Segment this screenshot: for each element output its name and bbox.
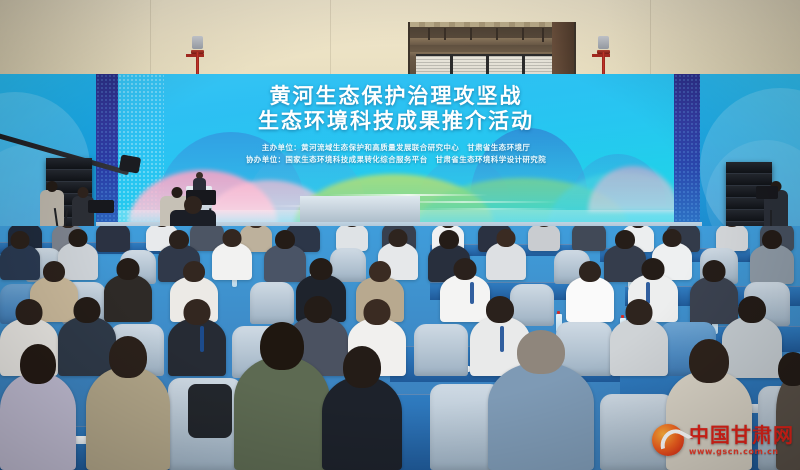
wall-shadow-right: [540, 0, 800, 82]
watermark-text: 中国甘肃网 www.gscn.com.cn: [689, 425, 794, 456]
organizer-line-co-host: 协办单位：国家生态环境科技成果转化综合服务平台 甘肃省生态环境科学设计研究院: [118, 154, 674, 166]
audience-member: [488, 362, 594, 470]
organizer-line-host: 主办单位：黄河流域生态保护和高质量发展联合研究中心 甘肃省生态环境厅: [118, 142, 674, 154]
audience-member: [322, 376, 402, 470]
video-camera-left: [88, 200, 114, 213]
hall-wall: [0, 0, 800, 82]
audience-member: [0, 372, 76, 470]
pillar-dot-pattern: [674, 74, 700, 226]
audience-member: [86, 366, 170, 470]
ceiling-hanger: [522, 28, 524, 40]
video-camera-right: [756, 186, 778, 199]
swirl-logo-icon: [652, 424, 684, 456]
conference-chair: [414, 324, 468, 376]
mezzanine-opening: [408, 22, 576, 82]
backpack: [188, 384, 232, 438]
wall-seam: [650, 0, 651, 82]
wall-seam: [150, 0, 151, 82]
camera-crane-head: [119, 154, 141, 173]
screen-title-line-2: 生态环境科技成果推介活动: [118, 109, 674, 134]
ceiling-hanger: [542, 28, 544, 42]
ceiling-hanger: [470, 28, 472, 40]
speaker-on-stage: [193, 172, 206, 190]
wall-seam: [330, 0, 331, 82]
ceiling-beam: [410, 38, 574, 45]
ceiling-hanger: [428, 28, 430, 40]
watermark: 中国甘肃网 www.gscn.com.cn: [652, 418, 792, 462]
backdrop-pillar-right: [674, 74, 700, 226]
conference-photo-scene: 甘肃·兰州 黄河生态保护治理攻坚战 生态环境科技成果推介活动 主办单位：黄河流域…: [0, 0, 800, 470]
mezzanine-lip: [410, 22, 574, 27]
conference-chair: [250, 282, 294, 324]
mezzanine-column: [552, 22, 574, 82]
ceiling-hanger: [444, 28, 446, 40]
screen-title-block: 黄河生态保护治理攻坚战 生态环境科技成果推介活动: [118, 84, 674, 134]
wall-shadow-left: [0, 0, 220, 82]
watermark-site-name: 中国甘肃网: [689, 425, 794, 445]
ceiling-hanger: [496, 28, 498, 40]
stage-table: [300, 196, 420, 222]
watermark-url: www.gscn.com.cn: [689, 448, 794, 456]
audience-member: [234, 356, 330, 470]
screen-organizer-block: 主办单位：黄河流域生态保护和高质量发展联合研究中心 甘肃省生态环境厅 协办单位：…: [118, 142, 674, 166]
screen-title-line-1: 黄河生态保护治理攻坚战: [118, 84, 674, 109]
